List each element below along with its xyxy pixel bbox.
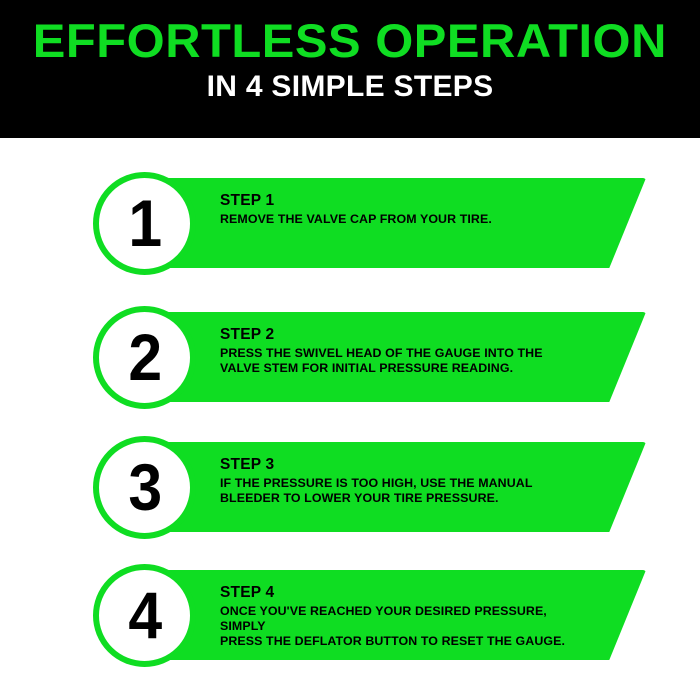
step-heading: STEP 3 [220,456,580,474]
page-title: EFFORTLESS OPERATION [33,16,667,66]
step-number-badge-1: 1 [93,172,196,275]
step-number-label: 3 [128,454,161,520]
step-description: PRESS THE SWIVEL HEAD OF THE GAUGE INTO … [220,346,580,376]
step-description: ONCE YOU'VE REACHED YOUR DESIRED PRESSUR… [220,604,580,649]
page-subtitle: IN 4 SIMPLE STEPS [207,70,494,104]
step-number-badge-3: 3 [93,436,196,539]
step-item-1: 1 STEP 1 REMOVE THE VALVE CAP FROM YOUR … [0,138,700,273]
step-heading: STEP 2 [220,326,580,344]
step-text-block-3: STEP 3 IF THE PRESSURE IS TOO HIGH, USE … [220,456,580,506]
step-item-3: 3 STEP 3 IF THE PRESSURE IS TOO HIGH, US… [0,402,700,537]
steps-list: 1 STEP 1 REMOVE THE VALVE CAP FROM YOUR … [0,138,700,700]
infographic-page: EFFORTLESS OPERATION IN 4 SIMPLE STEPS 1… [0,0,700,700]
header-banner: EFFORTLESS OPERATION IN 4 SIMPLE STEPS [0,0,700,138]
step-item-2: 2 STEP 2 PRESS THE SWIVEL HEAD OF THE GA… [0,272,700,407]
step-number-label: 1 [128,190,161,256]
step-text-block-1: STEP 1 REMOVE THE VALVE CAP FROM YOUR TI… [220,192,580,227]
step-number-badge-2: 2 [93,306,196,409]
step-heading: STEP 4 [220,584,580,602]
step-description: IF THE PRESSURE IS TOO HIGH, USE THE MAN… [220,476,580,506]
step-number-label: 2 [128,324,161,390]
step-text-block-2: STEP 2 PRESS THE SWIVEL HEAD OF THE GAUG… [220,326,580,376]
step-text-block-4: STEP 4 ONCE YOU'VE REACHED YOUR DESIRED … [220,584,580,649]
step-item-4: 4 STEP 4 ONCE YOU'VE REACHED YOUR DESIRE… [0,530,700,665]
step-number-badge-4: 4 [93,564,196,667]
step-number-label: 4 [128,582,161,648]
step-description: REMOVE THE VALVE CAP FROM YOUR TIRE. [220,212,580,227]
step-heading: STEP 1 [220,192,580,210]
